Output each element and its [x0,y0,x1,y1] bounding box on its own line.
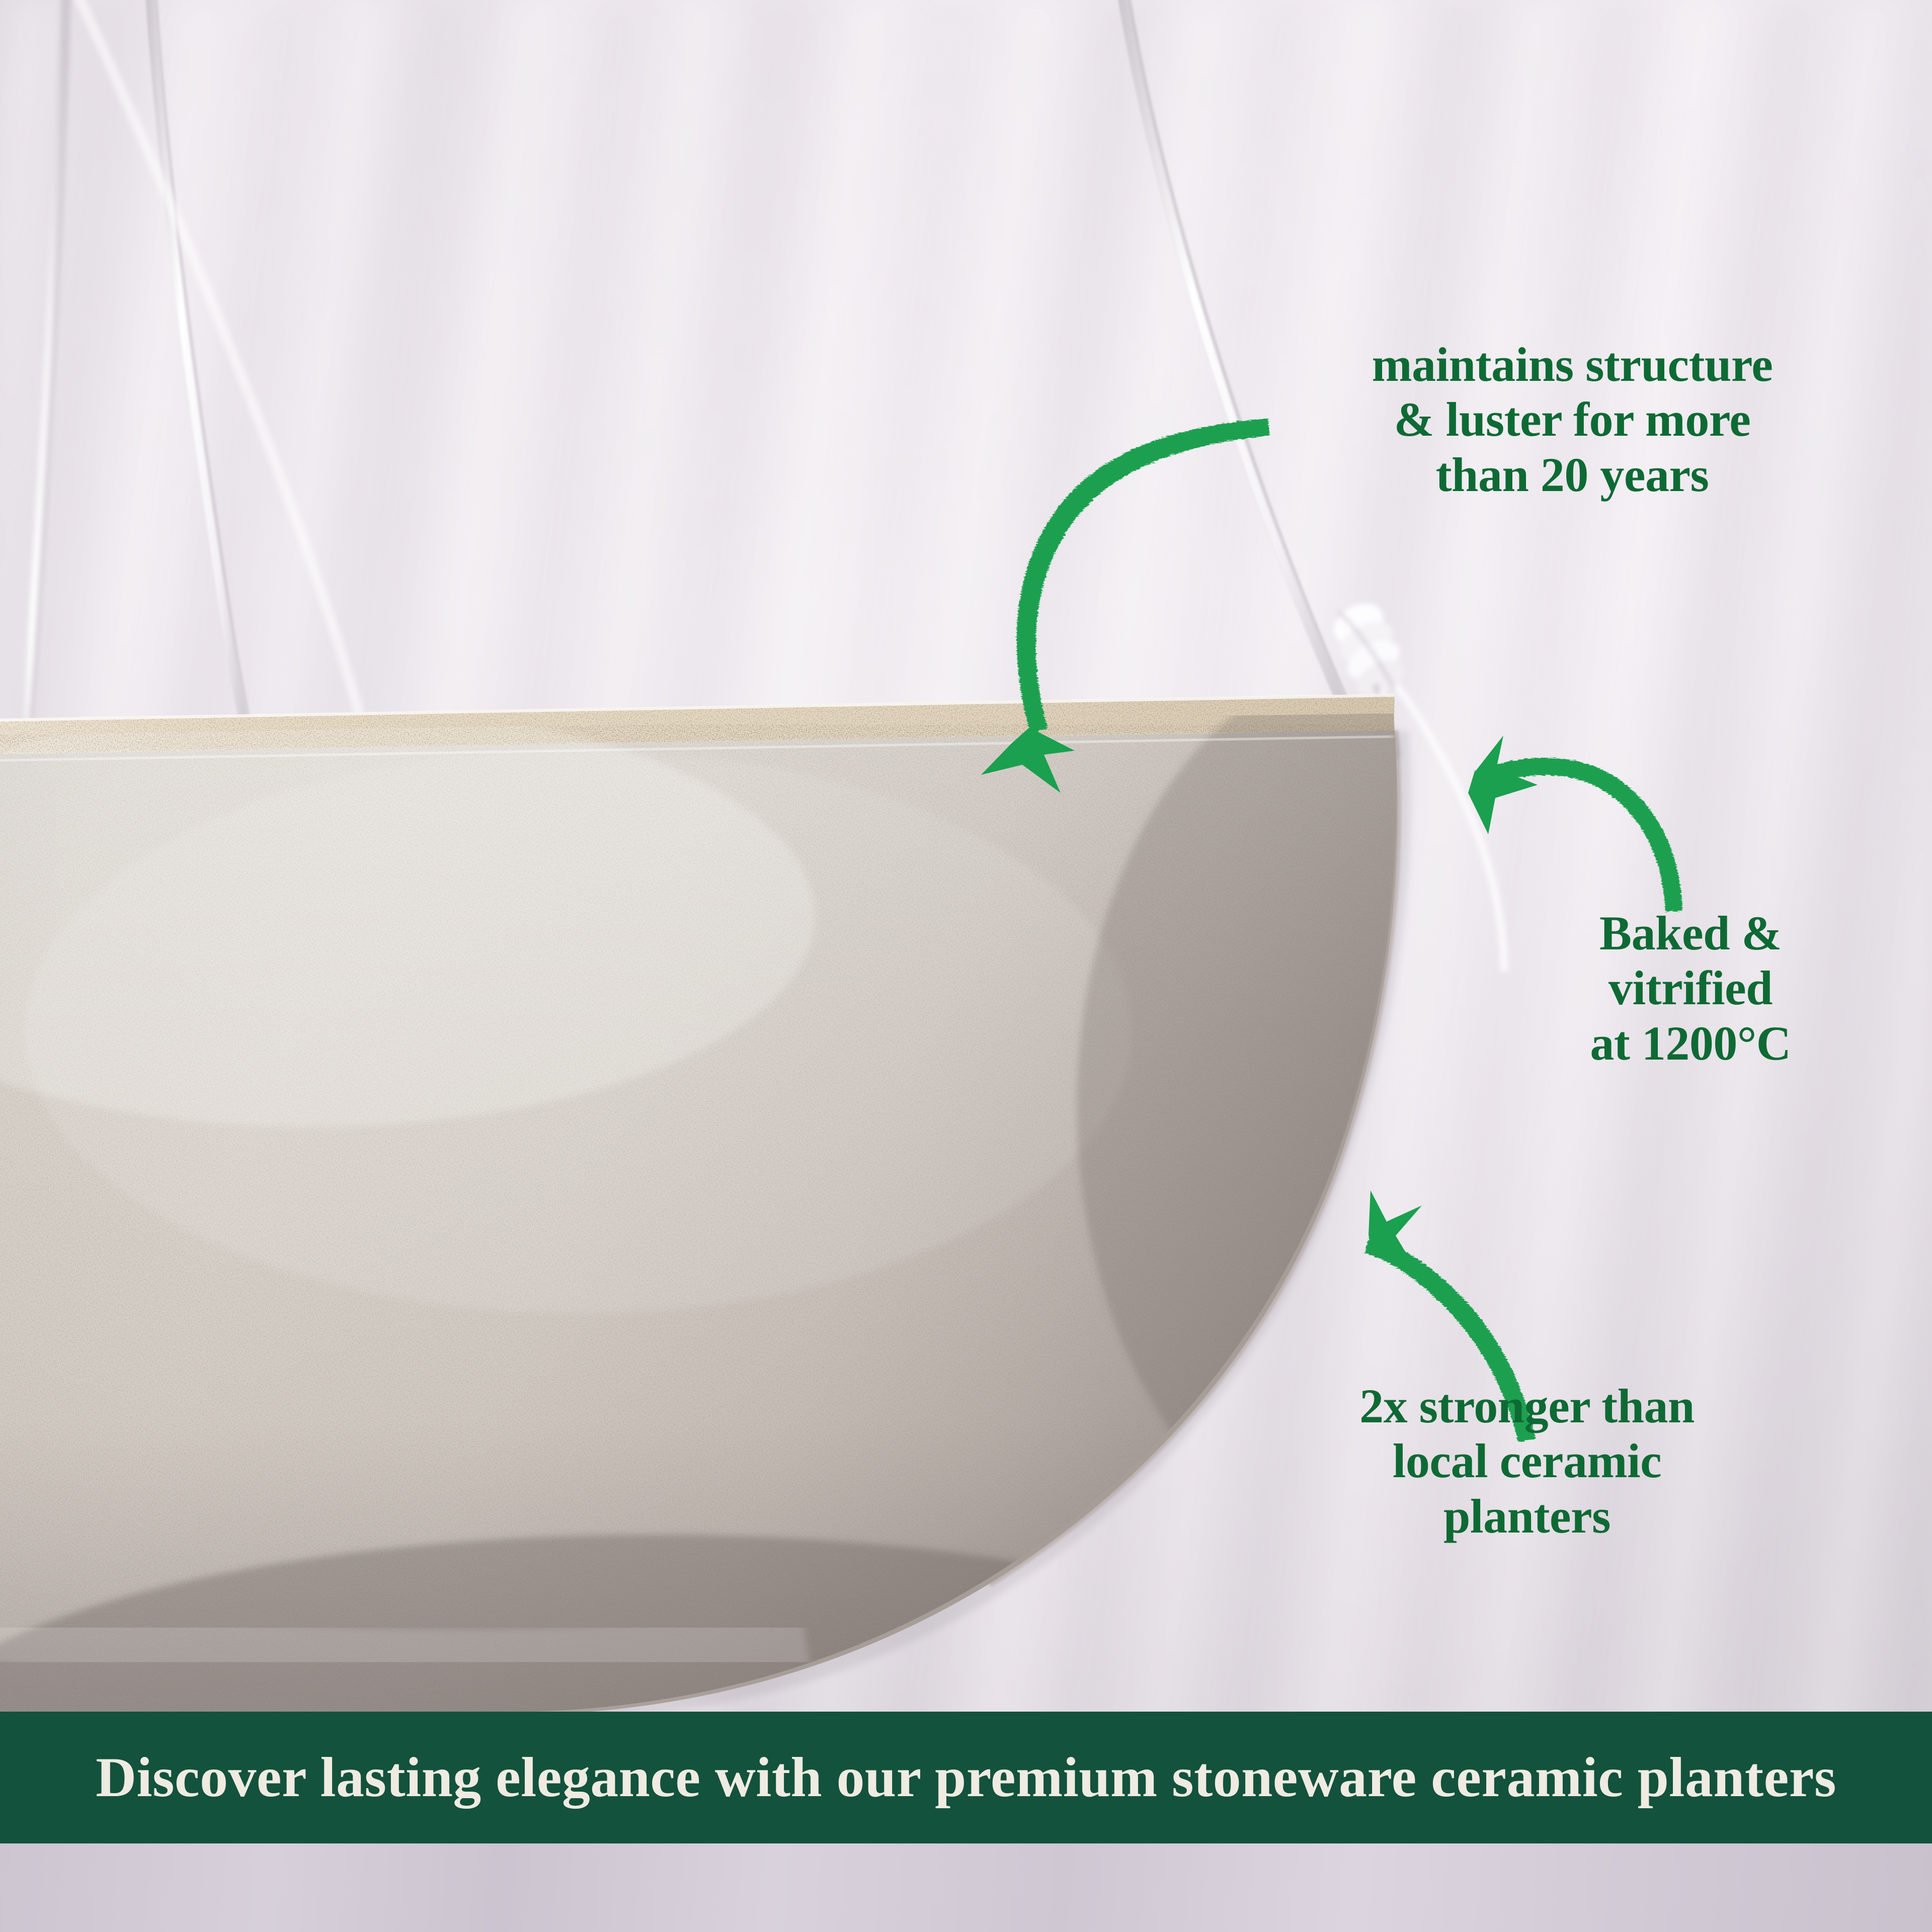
callout-2x-stronger: 2x stronger than local ceramic planters [1288,1379,1766,1544]
product-feature-image: maintains structure & luster for more th… [0,0,1932,1932]
callout-maintains-structure: maintains structure & luster for more th… [1288,337,1857,502]
bottom-banner: Discover lasting elegance with our premi… [0,1712,1932,1843]
footer-strip [0,1843,1932,1932]
banner-tagline: Discover lasting elegance with our premi… [96,1745,1836,1810]
callout-baked-vitrified: Baked & vitrified at 1200°C [1514,906,1867,1071]
